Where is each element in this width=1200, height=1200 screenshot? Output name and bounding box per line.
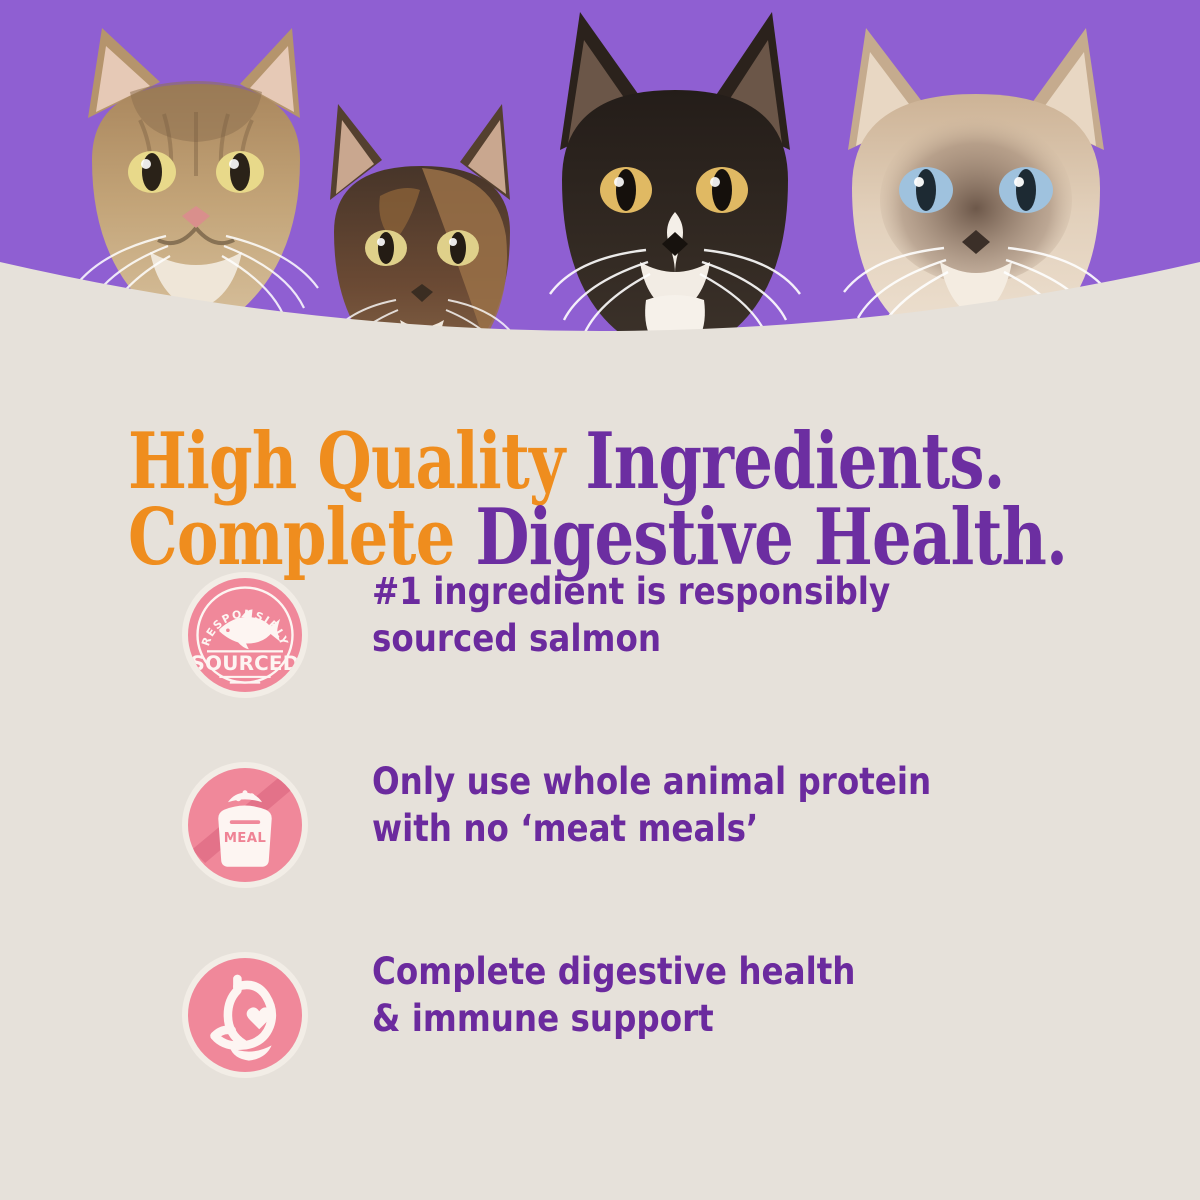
hero-photo-area bbox=[0, 0, 1200, 360]
content-area: High Quality Ingredients. Complete Diges… bbox=[0, 330, 1200, 1200]
responsibly-sourced-badge-graphic: RESPONSIBLY SOURCED bbox=[188, 578, 302, 692]
feature-text-line-2: & immune support bbox=[372, 995, 855, 1042]
list-item: Complete digestive health & immune suppo… bbox=[0, 948, 1200, 1138]
cats-photo bbox=[0, 0, 1200, 360]
headline-line-2: Complete Digestive Health. bbox=[128, 500, 936, 576]
product-benefits-banner: High Quality Ingredients. Complete Diges… bbox=[0, 0, 1200, 1200]
feature-text-line-1: #1 ingredient is responsibly bbox=[372, 568, 890, 615]
feature-list: RESPONSIBLY SOURCED bbox=[0, 568, 1200, 1138]
page-title: High Quality Ingredients. Complete Diges… bbox=[128, 424, 936, 575]
feature-text: Complete digestive health & immune suppo… bbox=[372, 948, 855, 1043]
feature-text: Only use whole animal protein with no ‘m… bbox=[372, 758, 931, 853]
feature-text-line-2: with no ‘meat meals’ bbox=[372, 805, 931, 852]
feature-text-line-1: Only use whole animal protein bbox=[372, 758, 931, 805]
no-meat-meal-sack-badge-icon: MEAL bbox=[182, 762, 308, 888]
stomach-heart-badge-graphic bbox=[188, 958, 302, 1072]
responsibly-sourced-fish-badge-icon: RESPONSIBLY SOURCED bbox=[182, 572, 308, 698]
badge-main-label: SOURCED bbox=[191, 651, 300, 675]
headline-line-1: High Quality Ingredients. bbox=[128, 424, 936, 500]
stomach-heart-digestive-health-badge-icon bbox=[182, 952, 308, 1078]
list-item: RESPONSIBLY SOURCED bbox=[0, 568, 1200, 758]
badge-main-label: MEAL bbox=[224, 831, 267, 846]
list-item: MEAL Only use whole animal protein with … bbox=[0, 758, 1200, 948]
meal-sack-badge-graphic: MEAL bbox=[188, 768, 302, 882]
feature-text-line-1: Complete digestive health bbox=[372, 948, 855, 995]
feature-text-line-2: sourced salmon bbox=[372, 615, 890, 662]
feature-text: #1 ingredient is responsibly sourced sal… bbox=[372, 568, 890, 663]
